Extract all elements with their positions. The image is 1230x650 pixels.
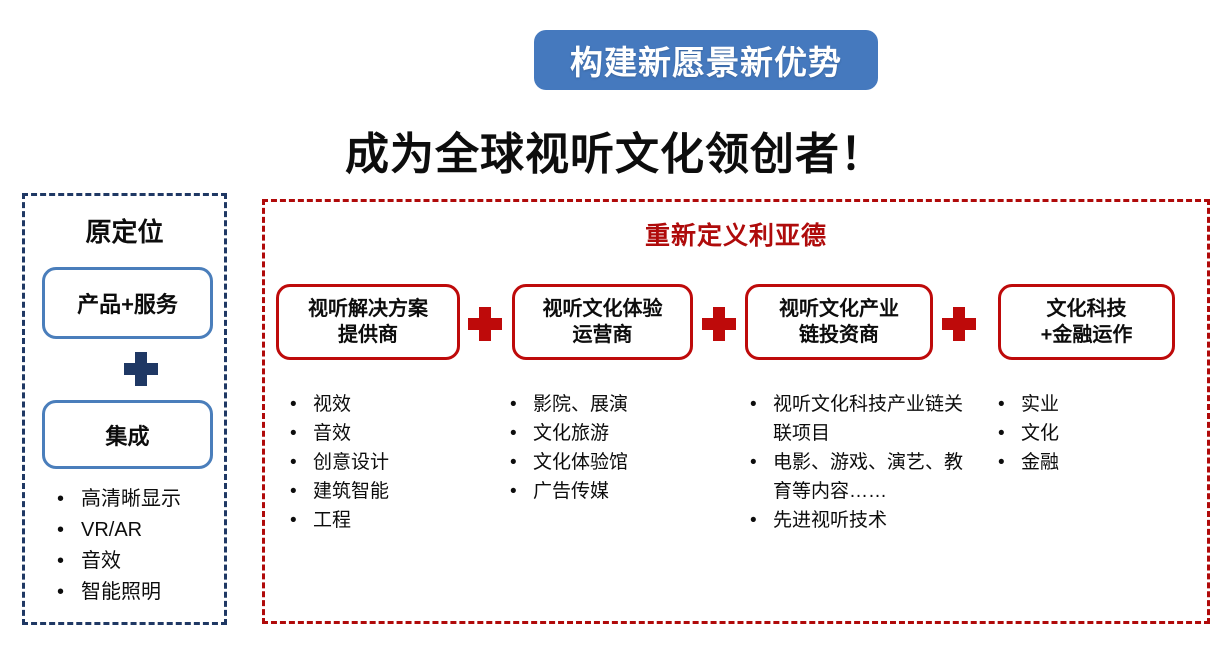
pillar-1-bullet-list: 视效 音效 创意设计 建筑智能 工程 [279,390,479,535]
pillar-box-2-text: 视听文化体验运营商 [543,296,663,348]
pillar-3-bullet-list: 视听文化科技产业链关联项目 电影、游戏、演艺、教育等内容…… 先进视听技术 [739,390,969,535]
pillar-box-1-text: 视听解决方案提供商 [308,296,428,348]
page-title: 成为全球视听文化领创者！ [0,118,1230,182]
right-panel-heading: 重新定义利亚德 [265,216,1207,252]
list-item: 视效 [279,390,479,419]
plus-icon [942,307,976,341]
original-positioning-panel: 原定位 产品+服务 集成 高清晰显示 VR/AR 音效 智能照明 [22,193,227,625]
plus-icon [124,352,158,386]
list-item: VR/AR [37,515,227,546]
pillar-4-bullet-list: 实业 文化 金融 [987,390,1177,477]
list-item: 实业 [987,390,1177,419]
pillar-box-2: 视听文化体验运营商 [512,284,693,360]
list-item: 工程 [279,506,479,535]
list-item: 音效 [37,546,227,577]
list-item: 文化体验馆 [499,448,709,477]
list-item: 创意设计 [279,448,479,477]
pillar-box-1: 视听解决方案提供商 [276,284,460,360]
redefine-leyard-panel: 重新定义利亚德 视听解决方案提供商 视听文化体验运营商 视听文化产业链投资商 文… [262,199,1210,624]
left-box-product-service: 产品+服务 [42,267,213,339]
list-item: 文化 [987,419,1177,448]
left-panel-heading: 原定位 [25,212,224,249]
pillar-box-4-text: 文化科技+金融运作 [1041,296,1133,348]
list-item: 建筑智能 [279,477,479,506]
headline-badge: 构建新愿景新优势 [534,30,878,90]
list-item: 广告传媒 [499,477,709,506]
list-item: 音效 [279,419,479,448]
pillar-2-bullet-list: 影院、展演 文化旅游 文化体验馆 广告传媒 [499,390,709,506]
plus-icon [468,307,502,341]
list-item: 高清晰显示 [37,484,227,515]
list-item: 先进视听技术 [739,506,969,535]
list-item: 金融 [987,448,1177,477]
list-item: 视听文化科技产业链关联项目 [739,390,969,448]
pillar-box-3: 视听文化产业链投资商 [745,284,933,360]
pillar-box-4: 文化科技+金融运作 [998,284,1175,360]
plus-icon [702,307,736,341]
left-box-integration: 集成 [42,400,213,469]
slide-canvas: 构建新愿景新优势 成为全球视听文化领创者！ 原定位 产品+服务 集成 高清晰显示… [0,0,1230,650]
list-item: 智能照明 [37,577,227,608]
pillar-box-3-text: 视听文化产业链投资商 [779,296,899,348]
list-item: 影院、展演 [499,390,709,419]
list-item: 文化旅游 [499,419,709,448]
left-panel-bullet-list: 高清晰显示 VR/AR 音效 智能照明 [37,484,227,608]
list-item: 电影、游戏、演艺、教育等内容…… [739,448,969,506]
